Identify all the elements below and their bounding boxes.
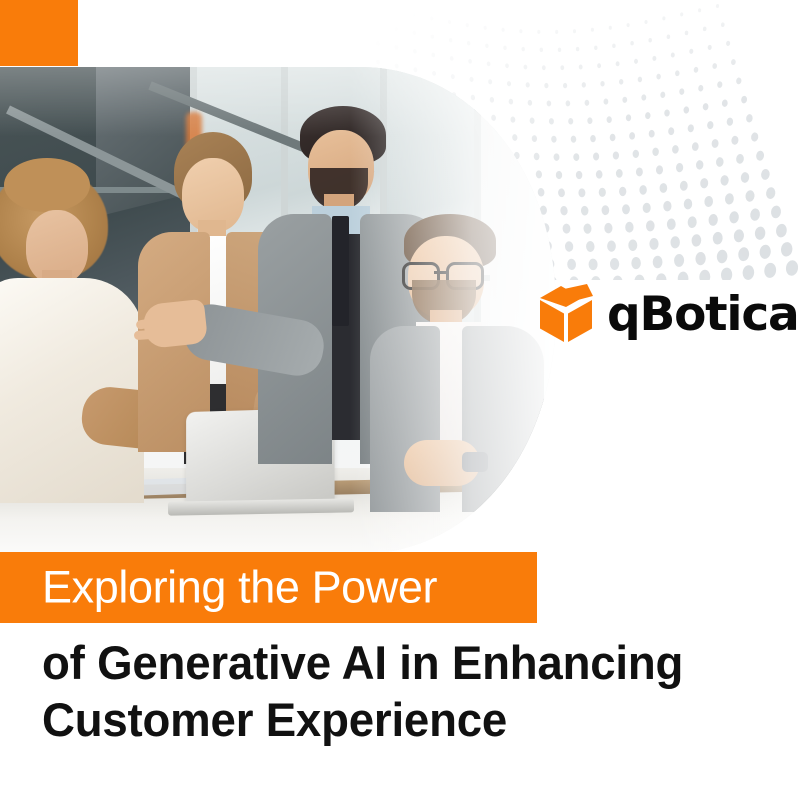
hero-photo [0, 67, 560, 554]
brand-logo: qBotica [537, 283, 799, 345]
person-man-glasses [378, 214, 560, 514]
headline-line-1: of Generative AI in Enhancing [42, 634, 750, 691]
social-media-poster: qBotica Exploring the Power of Generativ… [0, 0, 800, 800]
orange-corner-block [0, 0, 78, 66]
title-banner: Exploring the Power [0, 552, 537, 623]
logo-wordmark: qBotica [607, 291, 799, 338]
banner-title-text: Exploring the Power [42, 564, 437, 609]
open-box-cube-icon [537, 283, 595, 345]
headline: of Generative AI in Enhancing Customer E… [42, 634, 772, 749]
headline-line-2: Customer Experience [42, 691, 750, 748]
